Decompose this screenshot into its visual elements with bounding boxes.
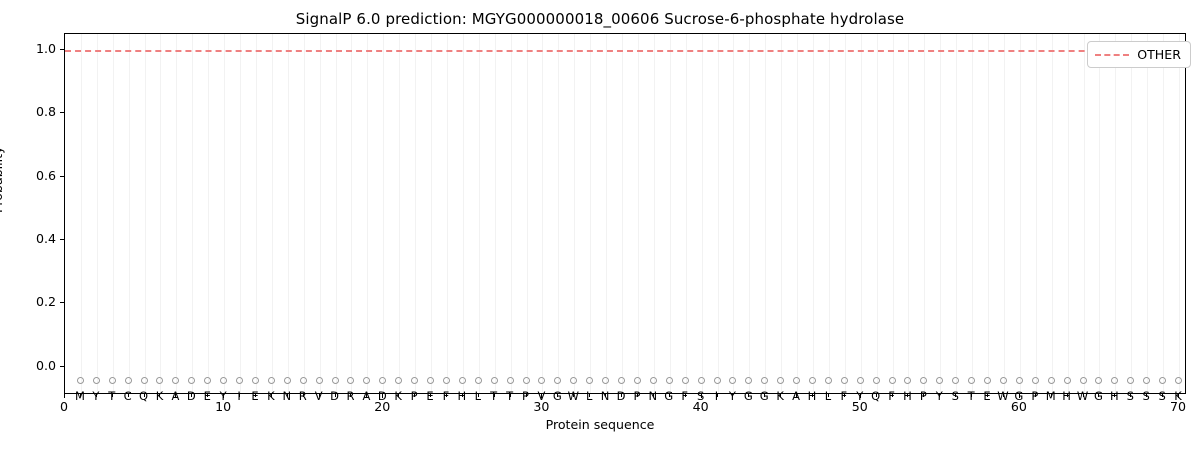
plot-area <box>64 33 1186 394</box>
residue-letter: Y <box>724 390 740 403</box>
residue-letter: P <box>915 390 931 403</box>
gridline-31 <box>558 34 559 393</box>
gridline-1 <box>81 34 82 393</box>
gridline-15 <box>304 34 305 393</box>
residue-letter: G <box>1011 390 1027 403</box>
gridline-17 <box>336 34 337 393</box>
y-tick-label: 0.6 <box>0 170 56 182</box>
residue-letter: F <box>884 390 900 403</box>
gridline-70 <box>1179 34 1180 393</box>
gridline-13 <box>272 34 273 393</box>
gridline-2 <box>97 34 98 393</box>
gridline-4 <box>129 34 130 393</box>
residue-letter: W <box>565 390 581 403</box>
residue-marker <box>332 377 339 384</box>
residue-letter: G <box>661 390 677 403</box>
residue-letter: I <box>709 390 725 403</box>
gridline-30 <box>542 34 543 393</box>
y-tick-label: 0.4 <box>0 233 56 245</box>
gridline-21 <box>399 34 400 393</box>
y-tick-mark <box>60 302 64 303</box>
residue-letter: S <box>947 390 963 403</box>
residue-letter: Q <box>868 390 884 403</box>
residue-letter: G <box>740 390 756 403</box>
gridline-10 <box>224 34 225 393</box>
residue-letter: L <box>581 390 597 403</box>
gridline-25 <box>463 34 464 393</box>
residue-letter: K <box>151 390 167 403</box>
residue-marker <box>141 377 148 384</box>
residue-marker <box>714 377 721 384</box>
residue-letter: G <box>549 390 565 403</box>
gridline-7 <box>176 34 177 393</box>
residue-letter: E <box>247 390 263 403</box>
gridline-38 <box>670 34 671 393</box>
residue-letter: S <box>693 390 709 403</box>
gridline-18 <box>351 34 352 393</box>
other-probability-line <box>65 50 1185 52</box>
gridline-57 <box>972 34 973 393</box>
gridline-27 <box>495 34 496 393</box>
residue-letter: T <box>502 390 518 403</box>
gridlines <box>65 34 1185 393</box>
gridline-9 <box>208 34 209 393</box>
gridline-68 <box>1147 34 1148 393</box>
gridline-53 <box>908 34 909 393</box>
residue-letter: K <box>772 390 788 403</box>
gridline-28 <box>511 34 512 393</box>
residue-letter: E <box>979 390 995 403</box>
gridline-37 <box>654 34 655 393</box>
gridline-51 <box>877 34 878 393</box>
residue-letter: V <box>311 390 327 403</box>
gridline-11 <box>240 34 241 393</box>
residue-letter: T <box>486 390 502 403</box>
gridline-65 <box>1099 34 1100 393</box>
y-tick-mark <box>60 49 64 50</box>
gridline-48 <box>829 34 830 393</box>
gridline-34 <box>606 34 607 393</box>
residue-letter: P <box>518 390 534 403</box>
gridline-62 <box>1052 34 1053 393</box>
residue-letter: F <box>677 390 693 403</box>
residue-letter: N <box>279 390 295 403</box>
residue-marker <box>1080 377 1087 384</box>
residue-letter: Y <box>852 390 868 403</box>
gridline-35 <box>622 34 623 393</box>
residue-letter: D <box>613 390 629 403</box>
gridline-55 <box>940 34 941 393</box>
residue-letter: C <box>120 390 136 403</box>
gridline-58 <box>988 34 989 393</box>
gridline-45 <box>781 34 782 393</box>
gridline-20 <box>383 34 384 393</box>
gridline-29 <box>527 34 528 393</box>
gridline-6 <box>160 34 161 393</box>
residue-letter: P <box>629 390 645 403</box>
gridline-50 <box>861 34 862 393</box>
residue-letter: G <box>1090 390 1106 403</box>
residue-letter: H <box>804 390 820 403</box>
gridline-49 <box>845 34 846 393</box>
gridline-32 <box>574 34 575 393</box>
gridline-44 <box>765 34 766 393</box>
residue-letter: M <box>72 390 88 403</box>
gridline-42 <box>733 34 734 393</box>
gridline-22 <box>415 34 416 393</box>
y-tick-mark <box>60 239 64 240</box>
gridline-67 <box>1131 34 1132 393</box>
gridline-47 <box>813 34 814 393</box>
signalp-prediction-figure: SignalP 6.0 prediction: MGYG000000018_00… <box>0 0 1200 450</box>
gridline-14 <box>288 34 289 393</box>
residue-letter: P <box>1027 390 1043 403</box>
gridline-64 <box>1084 34 1085 393</box>
residue-letter: D <box>374 390 390 403</box>
residue-letter: F <box>836 390 852 403</box>
y-tick-mark <box>60 176 64 177</box>
gridline-43 <box>749 34 750 393</box>
residue-letter: D <box>327 390 343 403</box>
residue-letter: F <box>438 390 454 403</box>
residue-letter: E <box>422 390 438 403</box>
legend[interactable]: OTHER <box>1087 41 1191 68</box>
y-tick-label: 1.0 <box>0 43 56 55</box>
residue-letter: Y <box>88 390 104 403</box>
gridline-59 <box>1004 34 1005 393</box>
residue-letter: T <box>104 390 120 403</box>
y-tick-mark <box>60 366 64 367</box>
gridline-33 <box>590 34 591 393</box>
gridline-41 <box>718 34 719 393</box>
gridline-61 <box>1036 34 1037 393</box>
gridline-52 <box>893 34 894 393</box>
residue-letter: L <box>470 390 486 403</box>
residue-letter: W <box>995 390 1011 403</box>
gridline-54 <box>924 34 925 393</box>
residue-letter: H <box>899 390 915 403</box>
residue-letter: A <box>167 390 183 403</box>
residue-marker <box>523 377 530 384</box>
residue-letter: K <box>263 390 279 403</box>
gridline-8 <box>192 34 193 393</box>
gridline-3 <box>113 34 114 393</box>
legend-label-other: OTHER <box>1137 47 1181 62</box>
residue-letter: N <box>645 390 661 403</box>
residue-letter: E <box>199 390 215 403</box>
residue-letter: Y <box>931 390 947 403</box>
residue-letter: M <box>1043 390 1059 403</box>
gridline-60 <box>1020 34 1021 393</box>
gridline-23 <box>431 34 432 393</box>
residue-letter: K <box>390 390 406 403</box>
residue-letter: R <box>342 390 358 403</box>
residue-letter: P <box>406 390 422 403</box>
residue-letter: Q <box>136 390 152 403</box>
residue-marker <box>1064 377 1071 384</box>
gridline-66 <box>1115 34 1116 393</box>
residue-letter: Y <box>215 390 231 403</box>
x-axis-label: Protein sequence <box>0 417 1200 432</box>
y-axis-label: Probability <box>0 146 5 213</box>
gridline-46 <box>797 34 798 393</box>
residue-letter: H <box>1106 390 1122 403</box>
residue-letter: S <box>1154 390 1170 403</box>
residue-letter: A <box>358 390 374 403</box>
residue-letter: S <box>1122 390 1138 403</box>
residue-letter: A <box>788 390 804 403</box>
residue-letter: S <box>1138 390 1154 403</box>
gridline-5 <box>145 34 146 393</box>
y-tick-label: 0.2 <box>0 296 56 308</box>
residue-marker <box>889 377 896 384</box>
legend-line-other-icon <box>1095 54 1129 56</box>
y-tick-label: 0.8 <box>0 106 56 118</box>
chart-title: SignalP 6.0 prediction: MGYG000000018_00… <box>0 10 1200 28</box>
y-tick-label: 0.0 <box>0 360 56 372</box>
gridline-40 <box>702 34 703 393</box>
y-tick-mark <box>60 112 64 113</box>
gridline-12 <box>256 34 257 393</box>
residue-letter: L <box>820 390 836 403</box>
residue-letter: H <box>454 390 470 403</box>
residue-letter: I <box>231 390 247 403</box>
residue-letter: H <box>1059 390 1075 403</box>
residue-letter: K <box>1170 390 1186 403</box>
residue-letter: N <box>597 390 613 403</box>
residue-marker <box>316 377 323 384</box>
residue-letter: V <box>533 390 549 403</box>
residue-letter: G <box>756 390 772 403</box>
residue-letter: T <box>963 390 979 403</box>
gridline-24 <box>447 34 448 393</box>
gridline-56 <box>956 34 957 393</box>
x-tick-mark <box>64 394 65 398</box>
gridline-63 <box>1068 34 1069 393</box>
gridline-16 <box>320 34 321 393</box>
residue-letter: D <box>183 390 199 403</box>
residue-marker <box>698 377 705 384</box>
residue-letter: R <box>295 390 311 403</box>
gridline-19 <box>367 34 368 393</box>
gridline-26 <box>479 34 480 393</box>
residue-letter: W <box>1075 390 1091 403</box>
gridline-39 <box>686 34 687 393</box>
gridline-69 <box>1163 34 1164 393</box>
residue-marker <box>507 377 514 384</box>
gridline-36 <box>638 34 639 393</box>
